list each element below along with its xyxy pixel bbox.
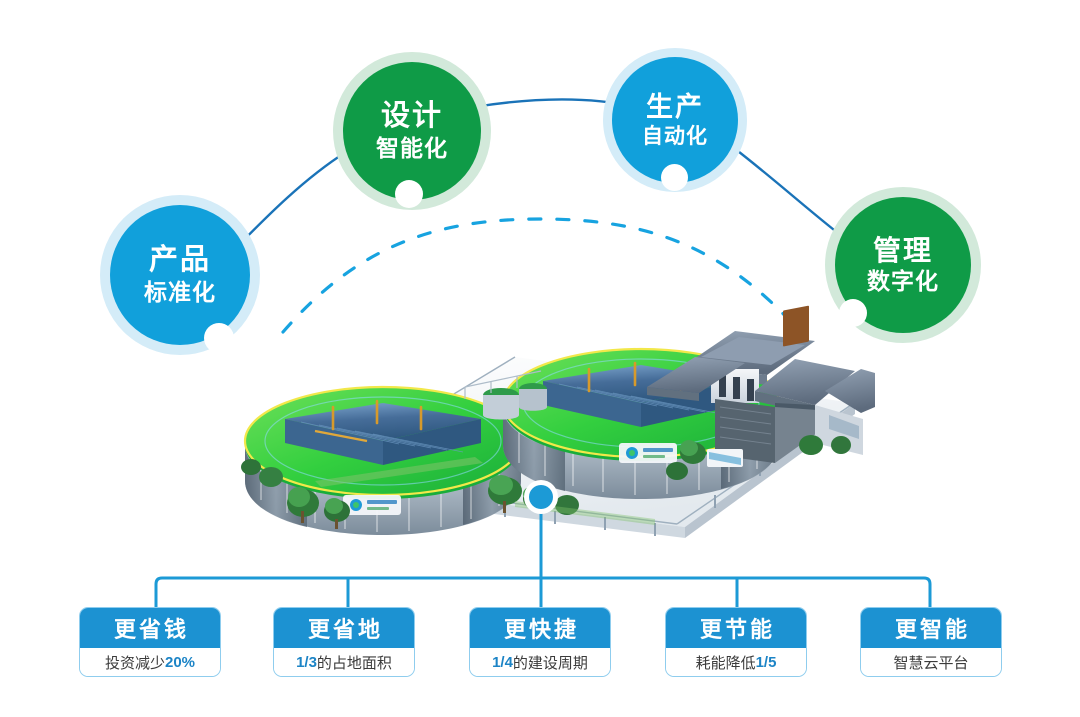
benefit-card-cost-highlight: 20% [165,654,195,671]
benefit-card-cost[interactable]: 更省钱 投资减少20% [79,607,221,677]
benefit-card-speed[interactable]: 更快捷 1/4的建设周期 [469,607,611,677]
benefit-card-energy-title: 更节能 [666,608,806,648]
benefit-card-row: 更省钱 投资减少20% 更省地 1/3的占地面积 更快捷 1/4的建设周期 更节… [0,607,1080,682]
infographic-canvas: 产品 标准化 设计 智能化 生产 自动化 管理 数字化 [0,0,1080,717]
benefit-card-energy-highlight: 1/5 [756,654,777,671]
benefit-card-speed-title: 更快捷 [470,608,610,648]
benefit-card-energy-body: 耗能降低1/5 [666,648,806,676]
benefit-card-speed-highlight: 1/4 [492,654,513,671]
benefit-card-land-body: 1/3的占地面积 [274,648,414,676]
benefit-card-cost-prefix: 投资减少 [105,652,165,673]
benefit-card-energy-prefix: 耗能降低 [696,652,756,673]
benefit-card-energy[interactable]: 更节能 耗能降低1/5 [665,607,807,677]
benefit-card-cost-title: 更省钱 [80,608,220,648]
benefit-card-intelligent-title: 更智能 [861,608,1001,648]
benefit-card-speed-suffix: 的建设周期 [513,652,588,673]
benefit-card-intelligent-body: 智慧云平台 [861,648,1001,676]
hub-dot [524,480,558,514]
benefit-card-intelligent[interactable]: 更智能 智慧云平台 [860,607,1002,677]
benefit-card-land-highlight: 1/3 [296,654,317,671]
hub-dot-core [529,485,553,509]
benefit-card-land[interactable]: 更省地 1/3的占地面积 [273,607,415,677]
benefit-card-intelligent-prefix: 智慧云平台 [893,652,968,673]
benefit-card-cost-body: 投资减少20% [80,648,220,676]
bracket-rail [156,578,930,607]
benefit-card-land-title: 更省地 [274,608,414,648]
benefit-card-land-suffix: 的占地面积 [317,652,392,673]
benefit-card-speed-body: 1/4的建设周期 [470,648,610,676]
